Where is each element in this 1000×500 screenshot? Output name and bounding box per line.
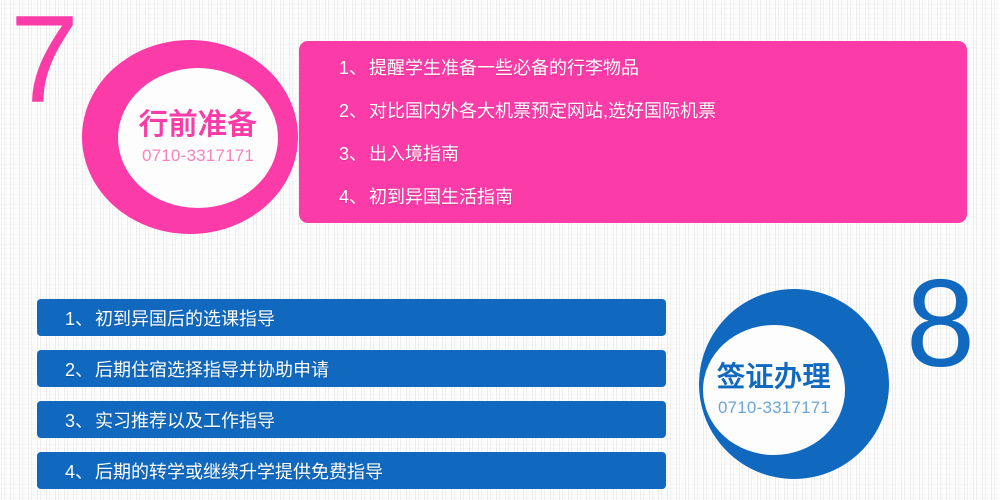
step-number-7: 7 — [10, 0, 76, 122]
pre-departure-panel: 1、提醒学生准备一些必备的行李物品 2、对比国内外各大机票预定网站,选好国际机票… — [299, 41, 967, 223]
service-bar-text: 初到异国后的选课指导 — [95, 305, 275, 331]
service-bar: 3、实习推荐以及工作指导 — [37, 401, 666, 438]
badge-pre-departure: 行前准备 0710-3317171 — [82, 40, 298, 234]
panel-item-index: 1、 — [339, 58, 367, 78]
panel-item-text: 对比国内外各大机票预定网站,选好国际机票 — [369, 101, 716, 121]
panel-item-index: 3、 — [339, 144, 367, 164]
service-bar-index: 4、 — [65, 458, 93, 484]
panel-item-index: 4、 — [339, 187, 367, 207]
service-bar: 1、初到异国后的选课指导 — [37, 299, 666, 336]
panel-item-text: 出入境指南 — [369, 144, 459, 164]
pink-ring-inner: 行前准备 0710-3317171 — [118, 68, 278, 208]
visa-service-bar-list: 1、初到异国后的选课指导 2、后期住宿选择指导并协助申请 3、实习推荐以及工作指… — [37, 299, 666, 490]
panel-list-item: 3、出入境指南 — [325, 145, 941, 163]
panel-list-item: 4、初到异国生活指南 — [325, 188, 941, 206]
service-bar: 4、后期的转学或继续升学提供免费指导 — [37, 452, 666, 489]
panel-item-index: 2、 — [339, 101, 367, 121]
panel-list-item: 1、提醒学生准备一些必备的行李物品 — [325, 59, 941, 77]
panel-item-text: 提醒学生准备一些必备的行李物品 — [369, 58, 639, 78]
panel-list-item: 2、对比国内外各大机票预定网站,选好国际机票 — [325, 102, 941, 120]
service-bar: 2、后期住宿选择指导并协助申请 — [37, 350, 666, 387]
badge-phone-visa: 0710-3317171 — [718, 399, 830, 418]
service-bar-index: 3、 — [65, 407, 93, 433]
service-bar-text: 后期住宿选择指导并协助申请 — [95, 356, 329, 382]
service-bar-index: 1、 — [65, 305, 93, 331]
service-bar-text: 实习推荐以及工作指导 — [95, 407, 275, 433]
badge-visa: 签证办理 0710-3317171 — [699, 289, 889, 479]
badge-phone-pre-departure: 0710-3317171 — [142, 147, 254, 166]
infographic-canvas: 7 行前准备 0710-3317171 1、提醒学生准备一些必备的行李物品 2、… — [0, 0, 1000, 500]
service-bar-text: 后期的转学或继续升学提供免费指导 — [95, 458, 383, 484]
badge-title-pre-departure: 行前准备 — [139, 110, 257, 140]
step-number-8: 8 — [906, 262, 972, 386]
service-bar-index: 2、 — [65, 356, 93, 382]
blue-ring-inner: 签证办理 0710-3317171 — [703, 325, 845, 455]
panel-item-text: 初到异国生活指南 — [369, 187, 513, 207]
badge-title-visa: 签证办理 — [717, 362, 831, 391]
